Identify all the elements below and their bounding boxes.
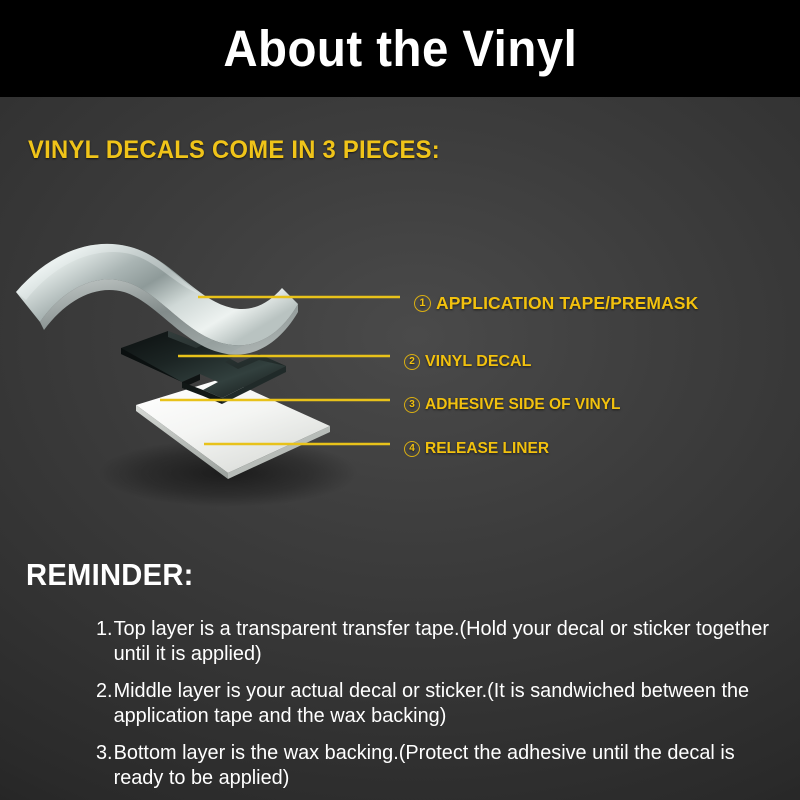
reminder-item-3: 3. Bottom layer is the wax backing.(Prot… [96,740,775,790]
reminder-heading: REMINDER: [26,557,194,593]
callout-label-1: APPLICATION TAPE/PREMASK [436,293,698,314]
callout-application-tape: 1 APPLICATION TAPE/PREMASK [414,293,698,314]
section-heading: VINYL DECALS COME IN 3 PIECES: [28,136,440,165]
callout-label-2: VINYL DECAL [425,353,531,371]
reminder-item-3-index: 3. [96,740,113,765]
callout-release-liner: 4 RELEASE LINER [404,440,549,458]
vinyl-layers-diagram [0,230,800,520]
reminder-item-2-index: 2. [96,678,113,703]
callout-label-3: ADHESIVE SIDE OF VINYL [425,396,621,414]
infographic-page: About the Vinyl VINYL DECALS COME IN 3 P… [0,0,800,800]
callout-number-4-icon: 4 [404,441,420,457]
reminder-item-1: 1. Top layer is a transparent transfer t… [96,616,775,666]
reminder-item-2-text: Middle layer is your actual decal or sti… [113,678,775,728]
page-title: About the Vinyl [223,23,577,74]
callout-number-1-icon: 1 [414,295,431,312]
callout-number-2-icon: 2 [404,354,420,370]
reminder-item-1-index: 1. [96,616,113,641]
reminder-list: 1. Top layer is a transparent transfer t… [96,616,796,800]
title-banner: About the Vinyl [0,0,800,97]
callout-vinyl-decal: 2 VINYL DECAL [404,353,531,371]
callout-adhesive-side: 3 ADHESIVE SIDE OF VINYL [404,396,621,414]
reminder-item-1-text: Top layer is a transparent transfer tape… [113,616,775,666]
reminder-item-2: 2. Middle layer is your actual decal or … [96,678,775,728]
callout-label-4: RELEASE LINER [425,440,549,458]
reminder-item-3-text: Bottom layer is the wax backing.(Protect… [113,740,775,790]
callout-number-3-icon: 3 [404,397,420,413]
